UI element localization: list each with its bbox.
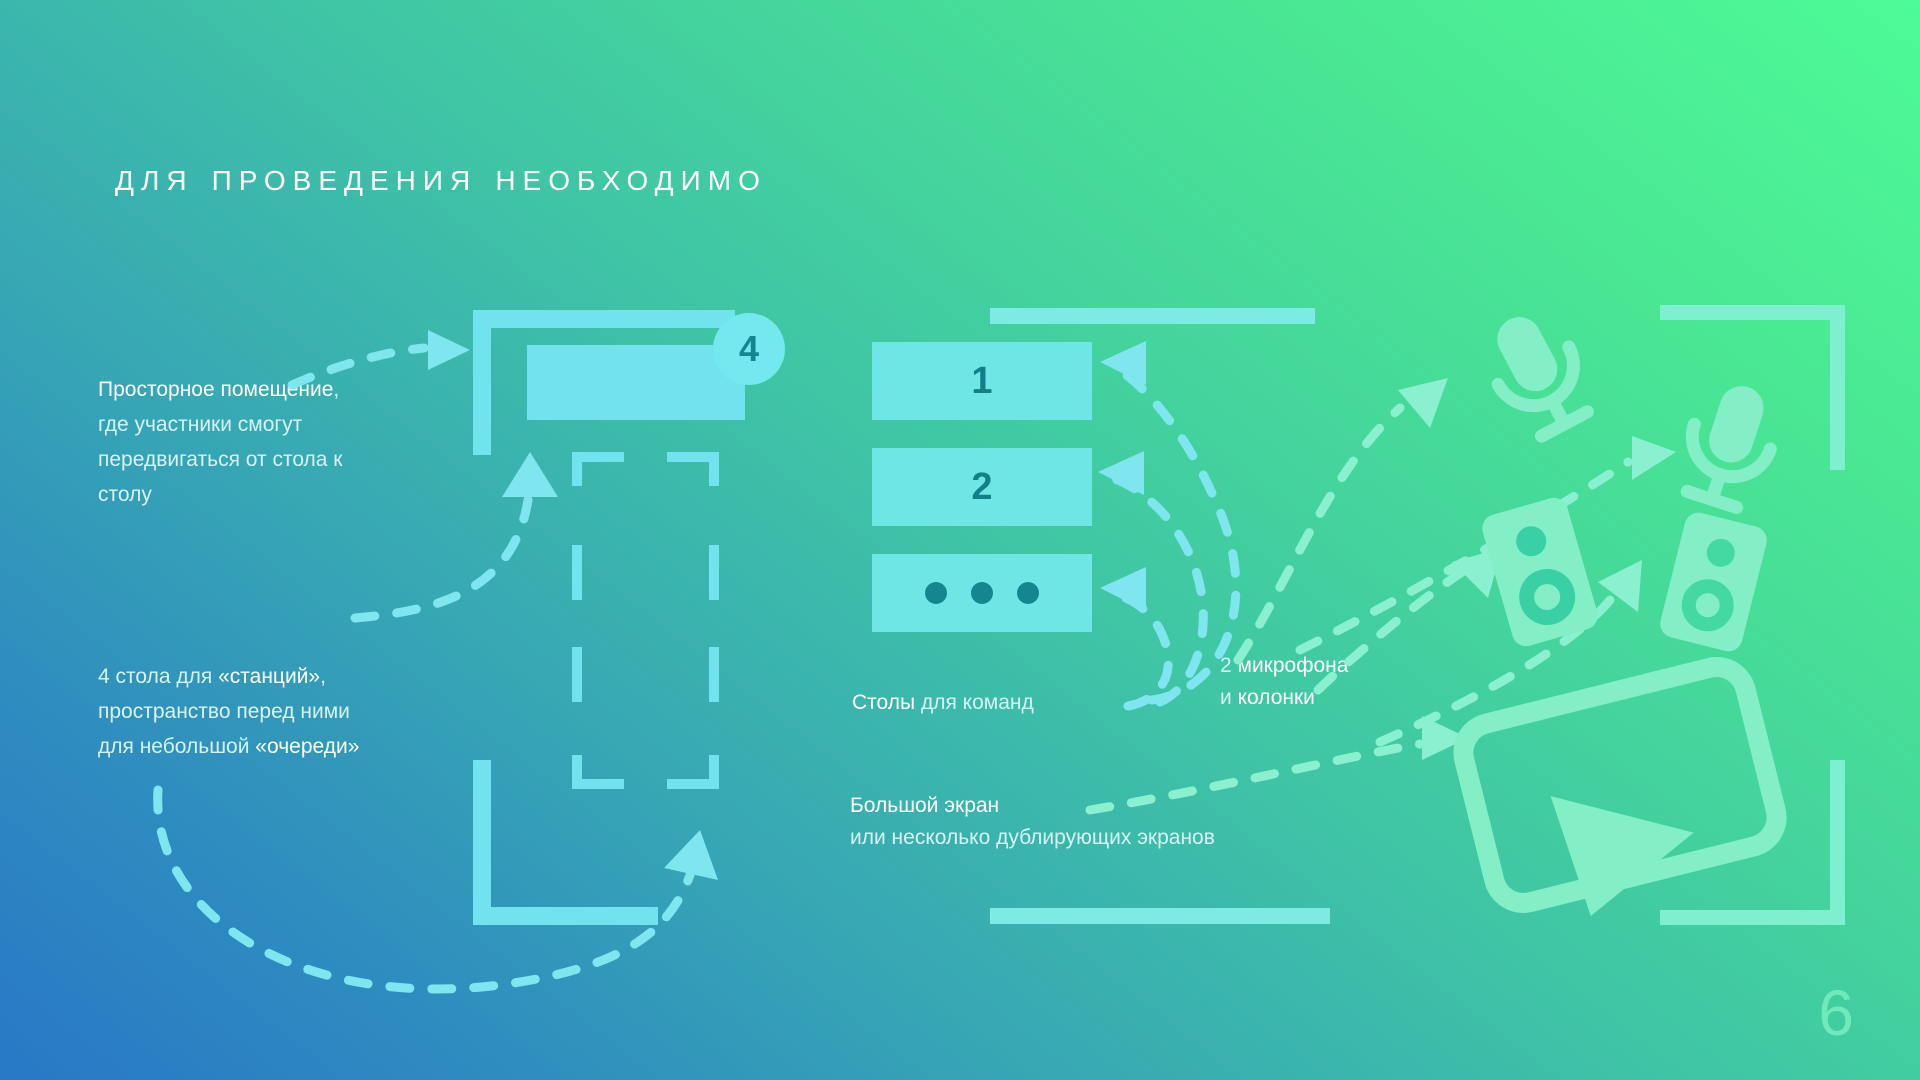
arrow-head-tables-2 [1098,451,1144,495]
room-divider [572,647,582,702]
arrow-queue [158,790,690,989]
team-table-1: 1 [872,342,1092,420]
decor-bar-bottom [990,908,1330,924]
slide-canvas: Для проведения необходимо Просторное пом… [0,0,1920,1080]
wall-top [473,310,735,328]
annotation-room: Просторное помещение, где участники смог… [98,373,363,512]
arrow-head-tables-1 [1100,341,1146,385]
speaker-icon [1479,495,1601,650]
arrow-tables-3 [1114,594,1168,706]
room-corner-marker [667,452,719,486]
annotation-audio-line2: и колонки [1220,682,1348,714]
annotation-audio: 2 микрофона и колонки [1220,650,1348,713]
annotation-tables-strong: Столы [852,691,915,714]
annotation-tables-rest: для команд [915,691,1034,714]
arrow-head-tables-3 [1100,567,1146,611]
annotation-audio-lead2: и [1220,686,1238,709]
annotation-stations-strong2: «очереди» [255,735,359,758]
arrow-head-speaker-1 [1452,548,1502,598]
arrow-mic-1 [1238,408,1400,660]
microphone-icon [1474,301,1600,443]
arrow-head-room [428,330,470,370]
speaker-icon [1657,510,1769,655]
room-divider [572,545,582,600]
annotation-stations-strong1: «станций» [218,665,320,688]
room-corner-marker [572,452,624,486]
wall-left-upper [473,310,491,455]
annotation-audio-line1: 2 микрофона [1220,650,1348,682]
arrow-speaker-2 [1380,600,1610,742]
room-corner-marker [667,755,719,789]
room-divider [709,545,719,600]
bracket-bottom-right [1660,760,1845,925]
team-table-2: 2 [872,448,1092,526]
wall-bottom [473,907,658,925]
arrow-tables-1 [1115,368,1236,700]
arrow-head-mic-1 [1398,378,1448,428]
bracket-top-right [1660,305,1845,470]
annotation-audio-lead1: 2 [1220,654,1238,677]
team-table-more [872,554,1092,632]
annotation-screen-strong: Большой экран [850,794,999,817]
annotation-tables: Столы для команд [852,687,1034,719]
ellipsis-dots-icon [925,582,1039,604]
arrow-head-stations-upper [502,452,558,497]
decor-bar-top [990,308,1315,324]
arrow-head-screen [1422,716,1468,760]
annotation-stations-lead: 4 стола для [98,665,218,688]
annotation-room-strong2: помещение [221,378,334,401]
arrow-stations-upper [355,500,528,618]
arrow-mic-2 [1300,462,1628,650]
annotation-screen: Большой экран или несколько дублирующих … [850,790,1215,853]
page-title: Для проведения необходимо [115,155,767,200]
arrow-head-queue [664,830,718,880]
slide-number: 6 [1818,976,1854,1050]
wall-left-lower [473,760,491,925]
arrow-tables-2 [1112,478,1203,702]
station-count-badge: 4 [713,313,785,385]
annotation-screen-rest: или несколько дублирующих экранов [850,822,1215,854]
room-divider [709,647,719,702]
annotation-audio-strong2: колонки [1238,686,1315,709]
annotation-room-strong1: Просторное [98,378,215,401]
room-corner-marker [572,755,624,789]
annotation-audio-strong1: микрофона [1238,654,1349,677]
arrow-head-speaker-2 [1598,560,1642,612]
annotation-stations: 4 стола для «станций», пространство пере… [98,660,388,765]
station-table-plan [527,345,745,420]
